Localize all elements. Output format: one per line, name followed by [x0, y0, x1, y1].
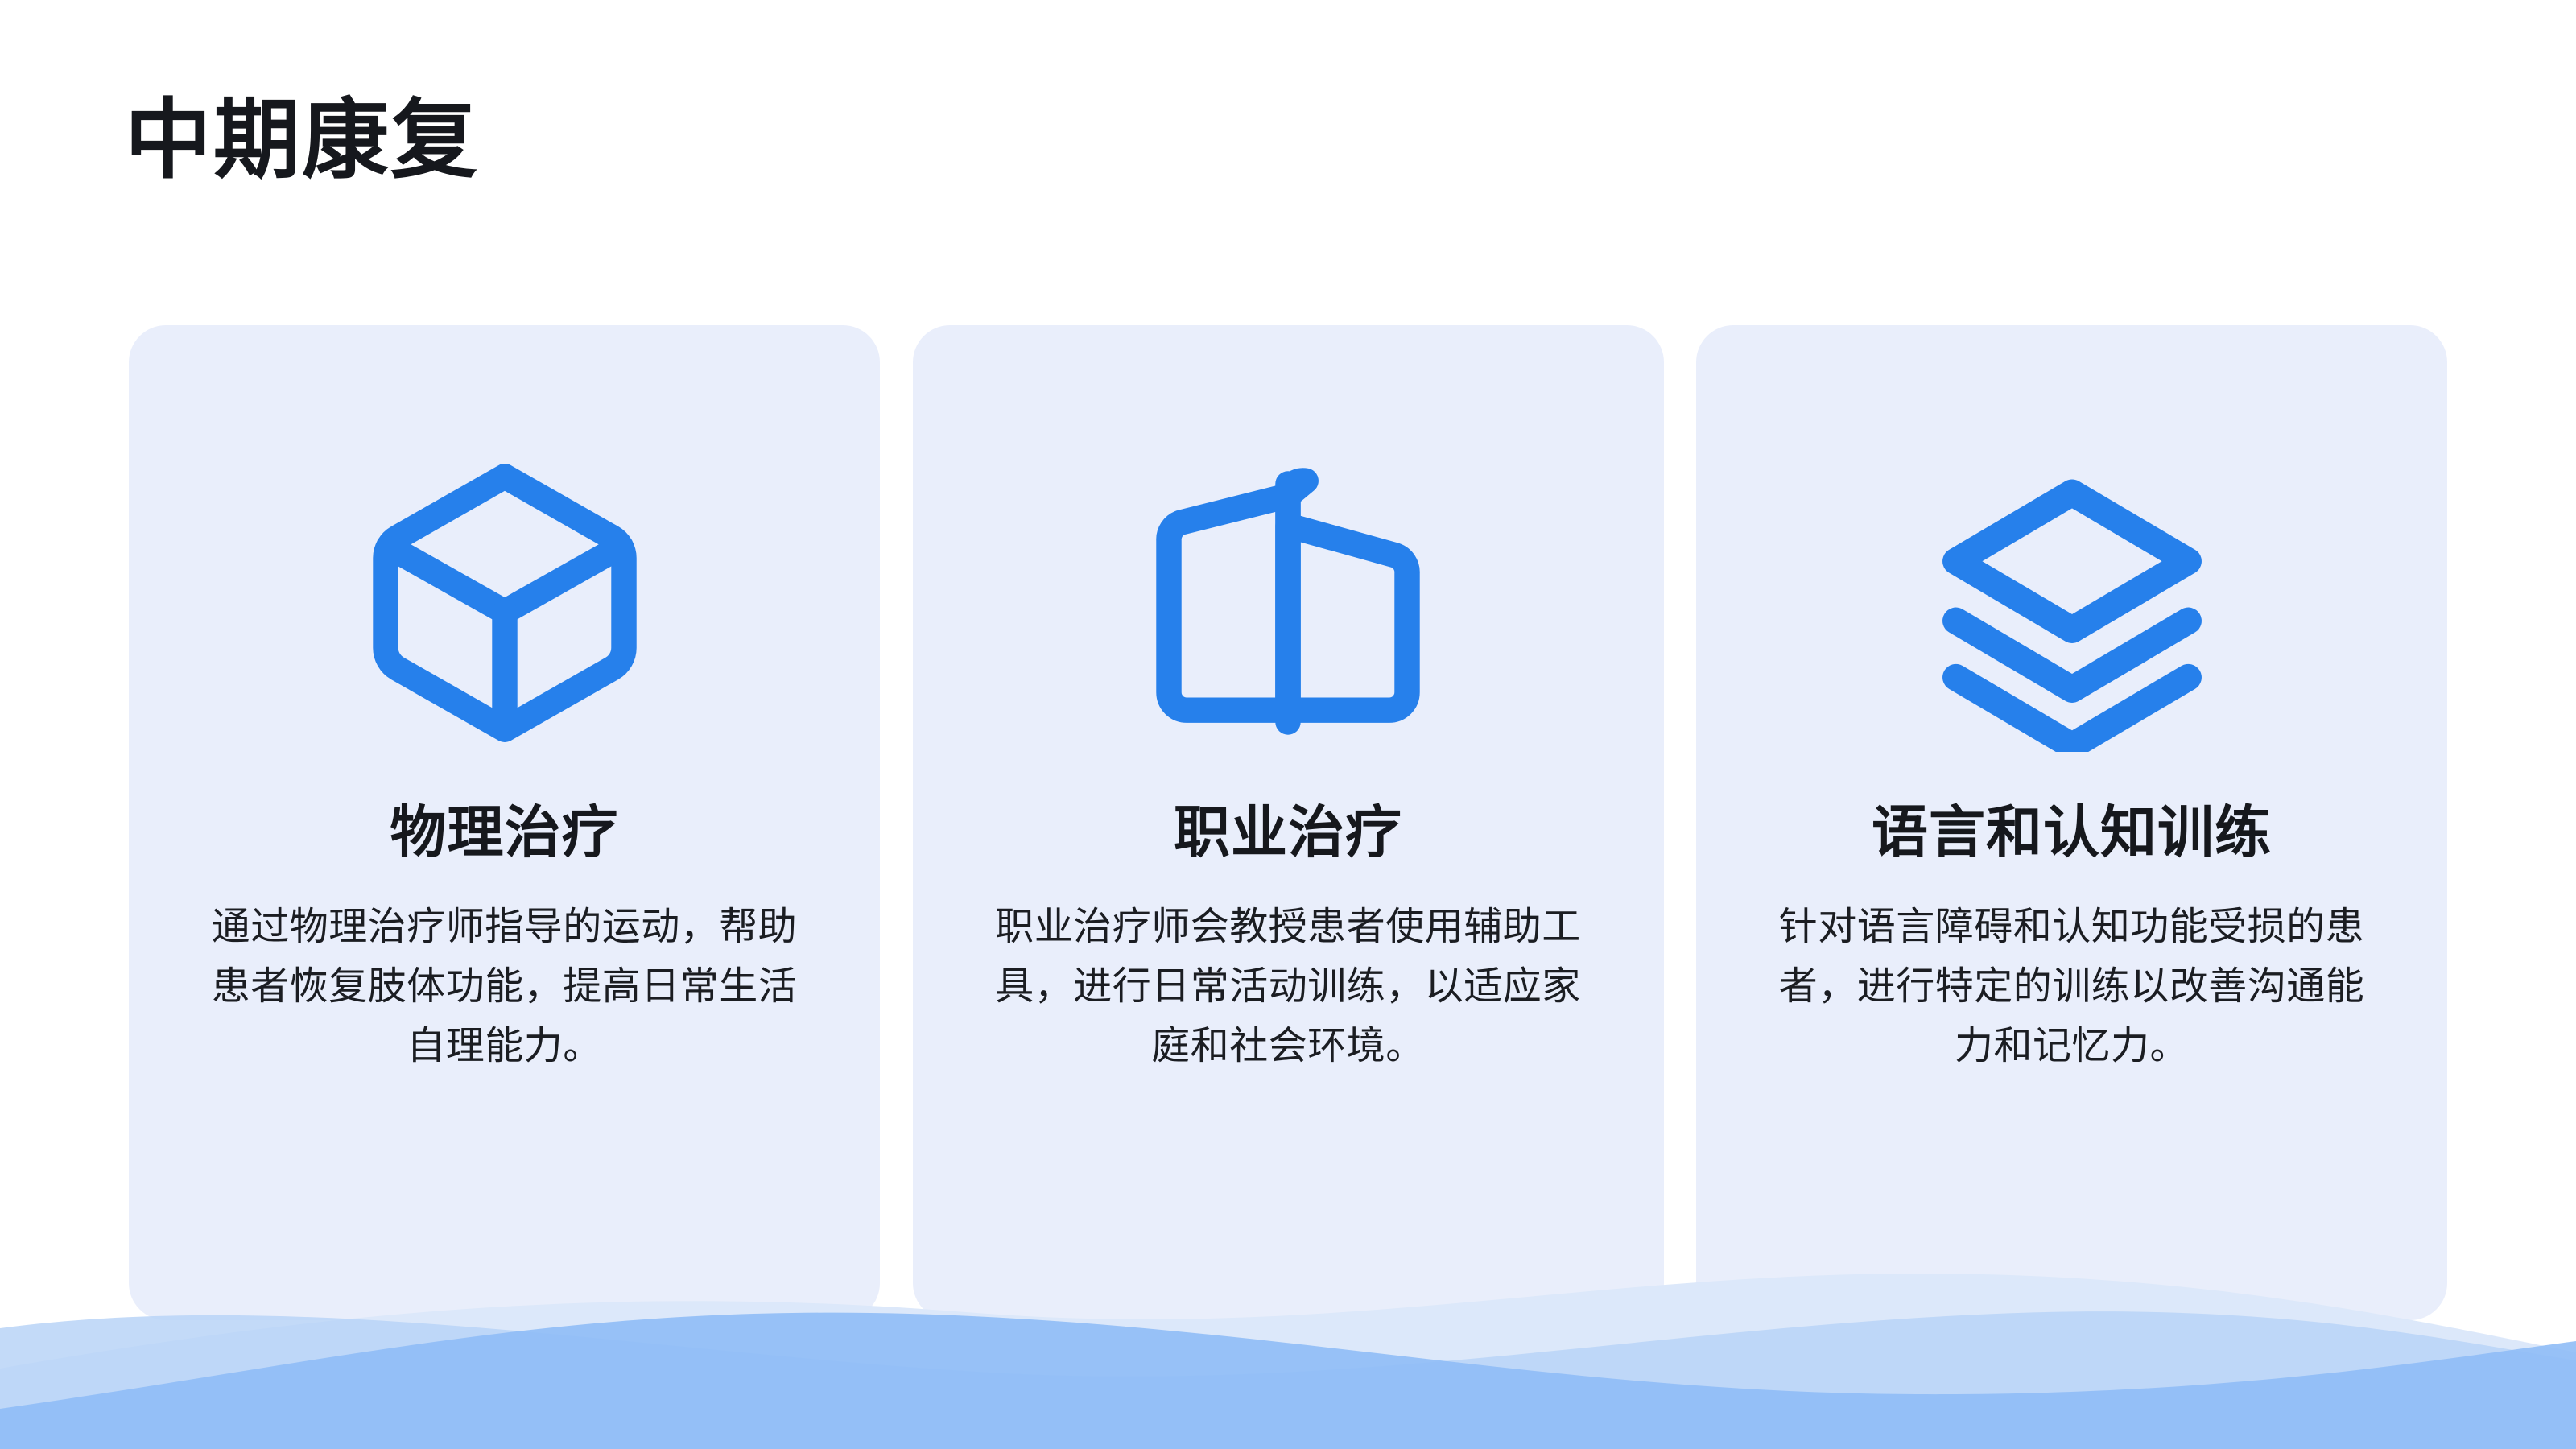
feature-card-description: 通过物理治疗师指导的运动，帮助患者恢复肢体功能，提高日常生活自理能力。	[207, 898, 803, 1077]
layers-stack-icon	[1923, 454, 2221, 752]
feature-card-speech-cognitive-training[interactable]: 语言和认知训练 针对语言障碍和认知功能受损的患者，进行特定的训练以改善沟通能力和…	[1696, 325, 2447, 1320]
feature-card-physical-therapy[interactable]: 物理治疗 通过物理治疗师指导的运动，帮助患者恢复肢体功能，提高日常生活自理能力。	[129, 325, 880, 1320]
feature-card-description: 针对语言障碍和认知功能受损的患者，进行特定的训练以改善沟通能力和记忆力。	[1774, 898, 2370, 1077]
feature-card-description: 职业治疗师会教授患者使用辅助工具，进行日常活动训练，以适应家庭和社会环境。	[990, 898, 1586, 1077]
feature-card-title: 语言和认知训练	[1872, 800, 2272, 865]
cube-icon	[356, 454, 654, 752]
feature-card-title: 职业治疗	[1174, 800, 1402, 865]
slide-canvas: 中期康复 物理治疗 通过物理治疗师指导的运动，帮助患者恢复肢体功能，提高日常生活…	[0, 0, 2576, 1449]
feature-card-occupational-therapy[interactable]: 职业治疗 职业治疗师会教授患者使用辅助工具，进行日常活动训练，以适应家庭和社会环…	[913, 325, 1664, 1320]
feature-card-title: 物理治疗	[390, 800, 619, 865]
page-title: 中期康复	[125, 93, 479, 188]
open-book-icon	[1139, 454, 1437, 752]
feature-cards-row: 物理治疗 通过物理治疗师指导的运动，帮助患者恢复肢体功能，提高日常生活自理能力。…	[129, 325, 2447, 1320]
